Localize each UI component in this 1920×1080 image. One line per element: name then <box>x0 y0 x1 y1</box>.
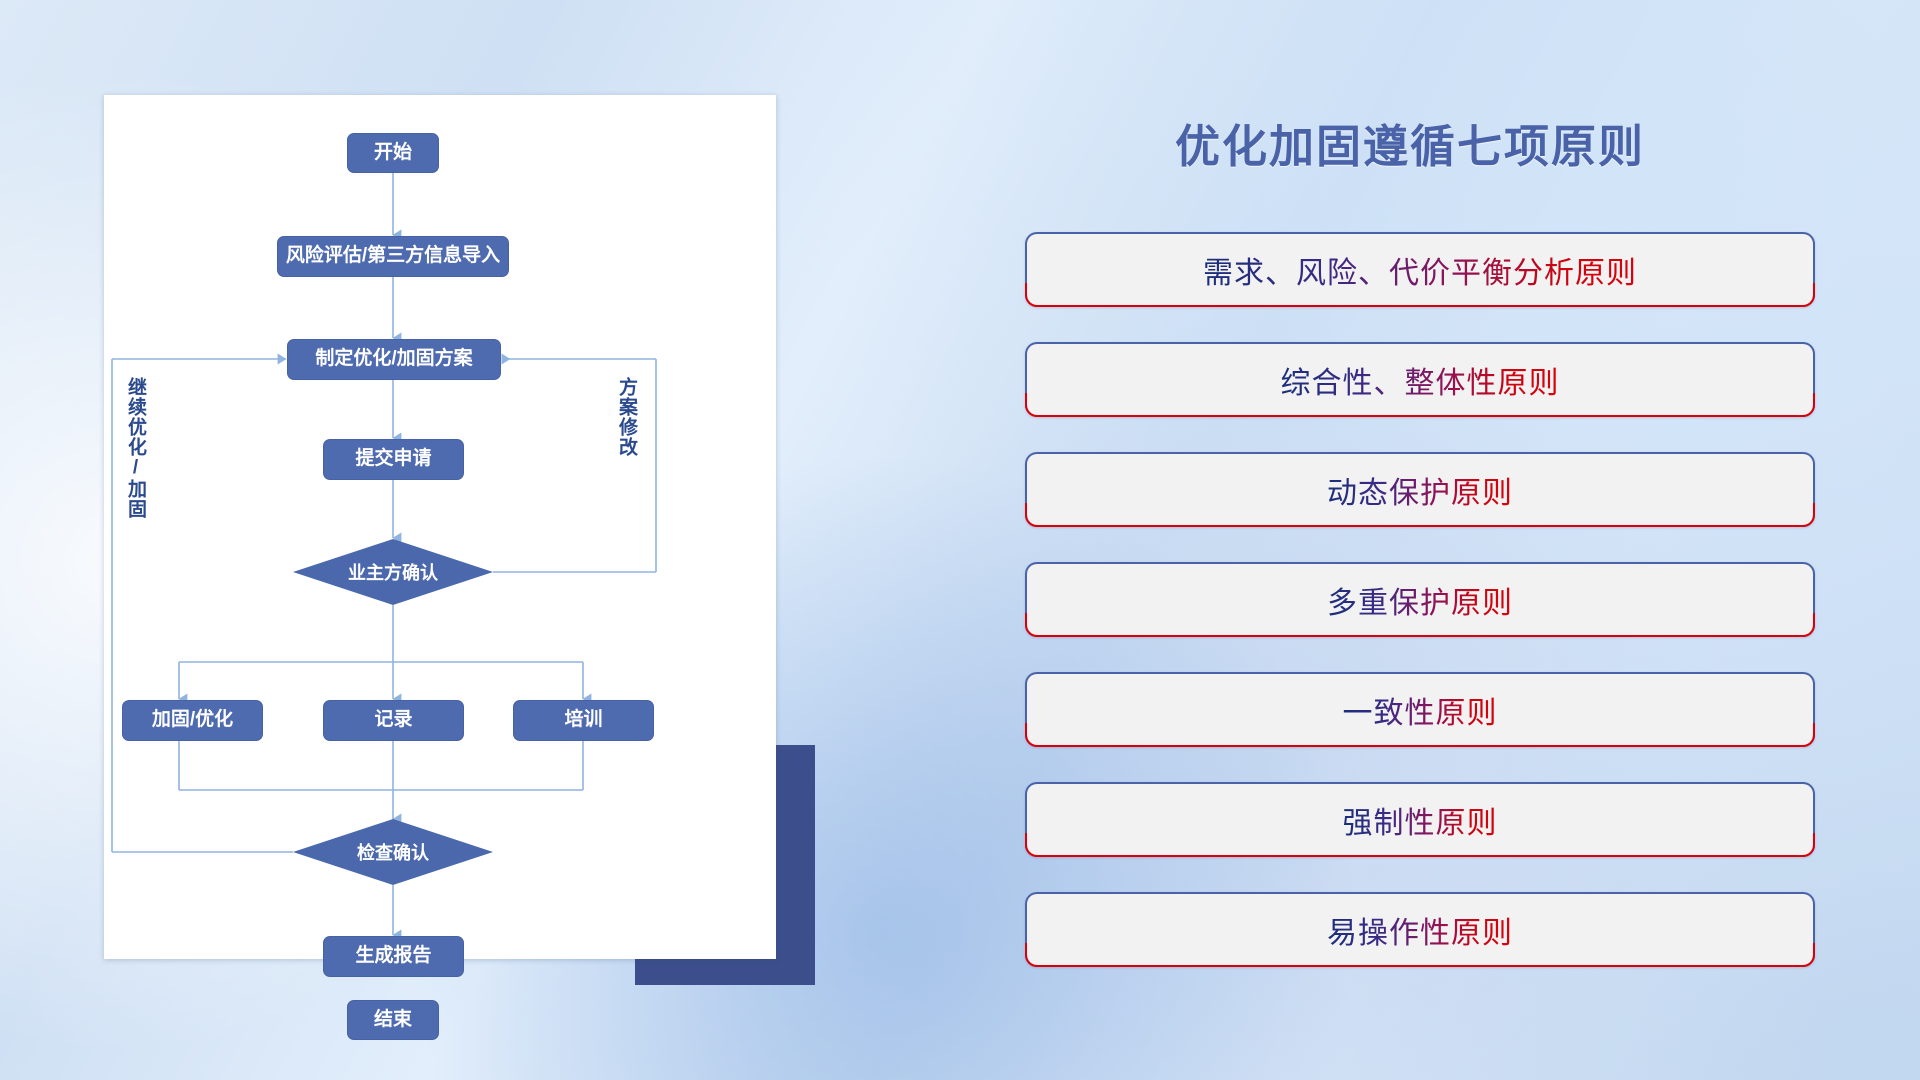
principle-list: 需求、风险、代价平衡分析原则 综合性、整体性原则 动态保护原则 多重保护原则 一… <box>1025 232 1815 1002</box>
flow-node-end[interactable]: 结束 <box>347 1000 439 1040</box>
principle-label: 动态保护原则 <box>1327 468 1513 512</box>
principle-label: 易操作性原则 <box>1327 908 1513 952</box>
principle-card-5[interactable]: 一致性原则 <box>1025 672 1815 747</box>
flow-node-label: 生成报告 <box>355 946 431 967</box>
flow-edge-label-plan-revision: 方案修改 <box>617 377 636 457</box>
flow-edge-label-continue-optimize: 继续优化/加固 <box>126 377 145 519</box>
flow-node-label: 结束 <box>374 1010 412 1031</box>
principle-label: 需求、风险、代价平衡分析原则 <box>1203 248 1637 292</box>
flow-node-submit-application[interactable]: 提交申请 <box>323 439 464 480</box>
principle-card-2[interactable]: 综合性、整体性原则 <box>1025 342 1815 417</box>
principle-label: 一致性原则 <box>1343 688 1498 732</box>
principle-card-7[interactable]: 易操作性原则 <box>1025 892 1815 967</box>
flow-node-risk-assessment[interactable]: 风险评估/第三方信息导入 <box>277 236 509 277</box>
principles-panel: 优化加固遵循七项原则 需求、风险、代价平衡分析原则 综合性、整体性原则 动态保护… <box>1000 0 1880 1080</box>
flow-node-record[interactable]: 记录 <box>323 700 464 741</box>
panel-title: 优化加固遵循七项原则 <box>1000 110 1820 175</box>
principle-card-3[interactable]: 动态保护原则 <box>1025 452 1815 527</box>
flow-node-label: 制定优化/加固方案 <box>315 349 472 370</box>
principle-card-4[interactable]: 多重保护原则 <box>1025 562 1815 637</box>
flow-node-label: 加固/优化 <box>152 710 233 731</box>
flow-node-check-confirm[interactable]: 检查确认 <box>293 819 493 885</box>
principle-label: 综合性、整体性原则 <box>1281 358 1560 402</box>
flow-node-generate-report[interactable]: 生成报告 <box>323 936 464 977</box>
edge-label-text: 继续优化/加固 <box>125 377 146 519</box>
flow-node-reinforce-optimize[interactable]: 加固/优化 <box>122 700 263 741</box>
flow-node-label: 记录 <box>374 710 412 731</box>
flow-node-owner-confirm[interactable]: 业主方确认 <box>293 539 493 605</box>
flow-node-label: 开始 <box>374 143 412 164</box>
flow-node-label: 风险评估/第三方信息导入 <box>286 246 500 267</box>
edge-label-text: 方案修改 <box>616 377 637 457</box>
principle-card-6[interactable]: 强制性原则 <box>1025 782 1815 857</box>
flow-node-label: 提交申请 <box>355 449 431 470</box>
flow-node-make-plan[interactable]: 制定优化/加固方案 <box>287 339 501 380</box>
principle-label: 强制性原则 <box>1343 798 1498 842</box>
flow-node-label: 培训 <box>564 710 602 731</box>
flowchart-card: 开始 风险评估/第三方信息导入 制定优化/加固方案 提交申请 业主方确认 加固/… <box>104 95 776 959</box>
flow-node-label: 业主方确认 <box>348 559 438 585</box>
flow-node-label: 检查确认 <box>357 839 429 865</box>
principle-card-1[interactable]: 需求、风险、代价平衡分析原则 <box>1025 232 1815 307</box>
flow-node-start[interactable]: 开始 <box>347 133 439 173</box>
flow-node-training[interactable]: 培训 <box>513 700 654 741</box>
principle-label: 多重保护原则 <box>1327 578 1513 622</box>
